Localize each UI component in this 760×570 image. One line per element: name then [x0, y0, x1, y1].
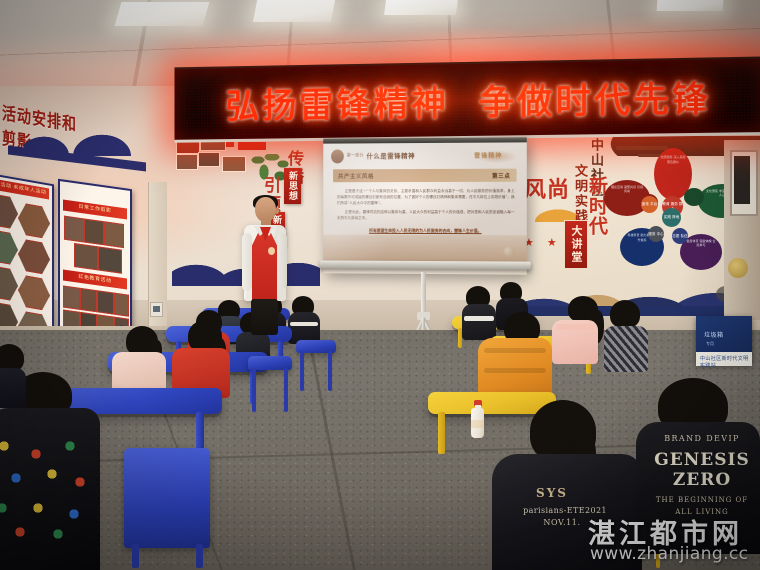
board-photo — [0, 228, 18, 266]
ceiling-panel-light — [253, 0, 335, 22]
pin-text: 实践 阵地 — [664, 215, 680, 220]
led-banner-line-left: 弘扬雷锋精神 — [225, 75, 449, 129]
speaker-volunteer-vest — [252, 230, 277, 300]
mural-line — [616, 146, 668, 150]
speaker-ear — [275, 208, 279, 214]
ceiling-panel-light — [657, 0, 724, 11]
board-photo — [80, 312, 97, 326]
mural-plaque: 大讲堂 — [564, 220, 588, 269]
hoodie-print-line3: NOV.11. — [526, 518, 598, 527]
slide-decor: 雷锋精神 — [466, 147, 519, 163]
slide-body: 正是基于这一“个人与集体的关系、主要矛盾和人民群众利益永远高于一切、为人民服务的… — [337, 189, 515, 234]
speaker-volunteer — [243, 197, 287, 332]
blob-dark-green-tail — [684, 188, 704, 206]
board-photo — [0, 264, 18, 302]
speaker-vest-logo — [268, 247, 275, 255]
slide-footer-circle — [503, 246, 514, 257]
board-photo — [74, 243, 98, 270]
jacket-print-line5: ALL LIVING — [652, 508, 752, 516]
hoodie-print-line1: SYS — [522, 486, 582, 500]
bottle-label — [471, 420, 484, 428]
bin-label-text: 中山社区新时代文明实践站 — [700, 355, 752, 369]
ceiling-panel-light — [384, 0, 458, 15]
led-scrolling-banner: 弘扬雷锋精神 争做时代先锋 — [175, 56, 760, 142]
jacket-print-line4: THE BEGINNING OF — [646, 496, 758, 504]
bin-subtitle: 专用 — [706, 341, 714, 347]
led-banner-text: 弘扬雷锋精神 争做时代先锋 — [175, 58, 760, 139]
pin-orange: 宣传 平台 — [641, 196, 658, 213]
board-photo — [18, 238, 50, 276]
photo-board: 文化活动 未成年人活动 — [0, 172, 54, 326]
board-photo — [104, 221, 124, 248]
screen-bottom-bar — [319, 260, 531, 269]
board-photo — [64, 216, 84, 243]
led-banner-line-right: 争做时代先锋 — [479, 70, 711, 125]
pin-text: 服务 中心 — [648, 232, 664, 237]
right-wall-frame-inner — [734, 156, 750, 204]
board-photo — [84, 218, 104, 245]
board-photo — [63, 286, 80, 310]
pin-teal: 实践 阵地 — [662, 208, 681, 227]
projection-screen: 第一部分 什么是雷锋精神 雷锋精神 共产主义风格 第三点 正是基于这一“个人与集… — [323, 137, 527, 274]
bin-label-strip: 中山社区新时代文明实践站 — [696, 352, 752, 366]
photo-scene: 活动安排和剪影 文化活动 未成年人活动 日常工作剪影 — [0, 0, 760, 570]
board-photo — [0, 300, 18, 326]
slide-header: 第一部分 什么是雷锋精神 雷锋精神 — [329, 146, 521, 165]
board-photo — [18, 202, 50, 240]
speaker-head — [255, 197, 276, 222]
pin-indigo: 志愿 队伍 — [672, 228, 688, 244]
slide-emphasis: 所有愿望生命投入人民无限的为人民服务的去向，雷锋人生价值。 — [337, 228, 515, 235]
jacket-pattern — [0, 434, 94, 542]
slide-paragraph: 正是基于这一“个人与集体的关系、主要矛盾和人民群众利益永远高于一切、为人民服务的… — [337, 189, 515, 206]
slide-decor-text: 雷锋精神 — [474, 151, 502, 160]
hoodie-print-line2: parisians-ETE2021 — [510, 506, 620, 515]
slide-avatar-icon — [331, 149, 344, 163]
board-photo — [63, 310, 80, 326]
bin-title: 垃圾箱 — [704, 330, 724, 339]
mural-fragment-text: 风尚 — [524, 172, 570, 204]
slide-paragraph: 正是为此，雷锋同志的这种以集体为重、人民大众的利益高于个人的价值观，把对党和人民… — [337, 210, 515, 222]
board-photo — [80, 288, 97, 312]
blob-text: 理论宣讲 凝聚共识 引领风尚 — [610, 185, 643, 211]
left-wall-display: 活动安排和剪影 文化活动 未成年人活动 日常工作剪影 — [0, 86, 185, 326]
board-photo — [97, 290, 114, 314]
wall-photo-tile — [198, 152, 220, 167]
slide-footer-band — [323, 235, 527, 262]
pin-gray: 服务 中心 — [648, 226, 664, 242]
blob-text: 健身体育 强健体魄 全民参与 — [686, 239, 716, 265]
board-photo — [97, 314, 114, 326]
speaker-arm-right — [278, 233, 287, 289]
slide-band-right: 第三点 — [492, 172, 511, 180]
jacket-print-line3: ZERO — [644, 470, 760, 490]
slide-band-left: 共产主义风格 — [338, 172, 374, 180]
board-photo — [98, 246, 122, 273]
screen-surface: 第一部分 什么是雷锋精神 雷锋精神 共产主义风格 第三点 正是基于这一“个人与集… — [323, 142, 527, 261]
pin-text: 宣传 平台 — [642, 202, 658, 207]
board-photo — [114, 293, 129, 317]
wall-photo-tile — [222, 156, 246, 172]
photo-board: 日常工作剪影 红色教育活动 — [58, 179, 132, 326]
slide-breadcrumb: 第一部分 — [347, 152, 364, 158]
slide-band: 共产主义风格 第三点 — [333, 169, 517, 183]
jacket-print-line1: BRAND DEVIP — [650, 434, 754, 443]
jacket-print-line2: GENESIS — [644, 450, 760, 470]
slide-heading: 什么是雷锋精神 — [366, 150, 415, 160]
wall-photo-tile — [176, 154, 198, 170]
board-photo — [18, 310, 50, 326]
tripod-pole — [421, 272, 426, 316]
speaker-legs — [251, 299, 278, 335]
blob-text: 志愿服务 深入基层 惠及群众 — [659, 155, 686, 192]
water-bottle — [470, 400, 485, 438]
wall-red-tag — [238, 142, 266, 150]
speaker-arm-left — [242, 233, 252, 291]
ceiling-panel-light — [115, 2, 210, 26]
board-photo — [18, 274, 50, 312]
board-photo — [0, 192, 18, 230]
light-switch[interactable] — [150, 302, 163, 317]
pin-text: 志愿 队伍 — [672, 234, 688, 239]
right-wall-round-sign — [728, 258, 748, 278]
